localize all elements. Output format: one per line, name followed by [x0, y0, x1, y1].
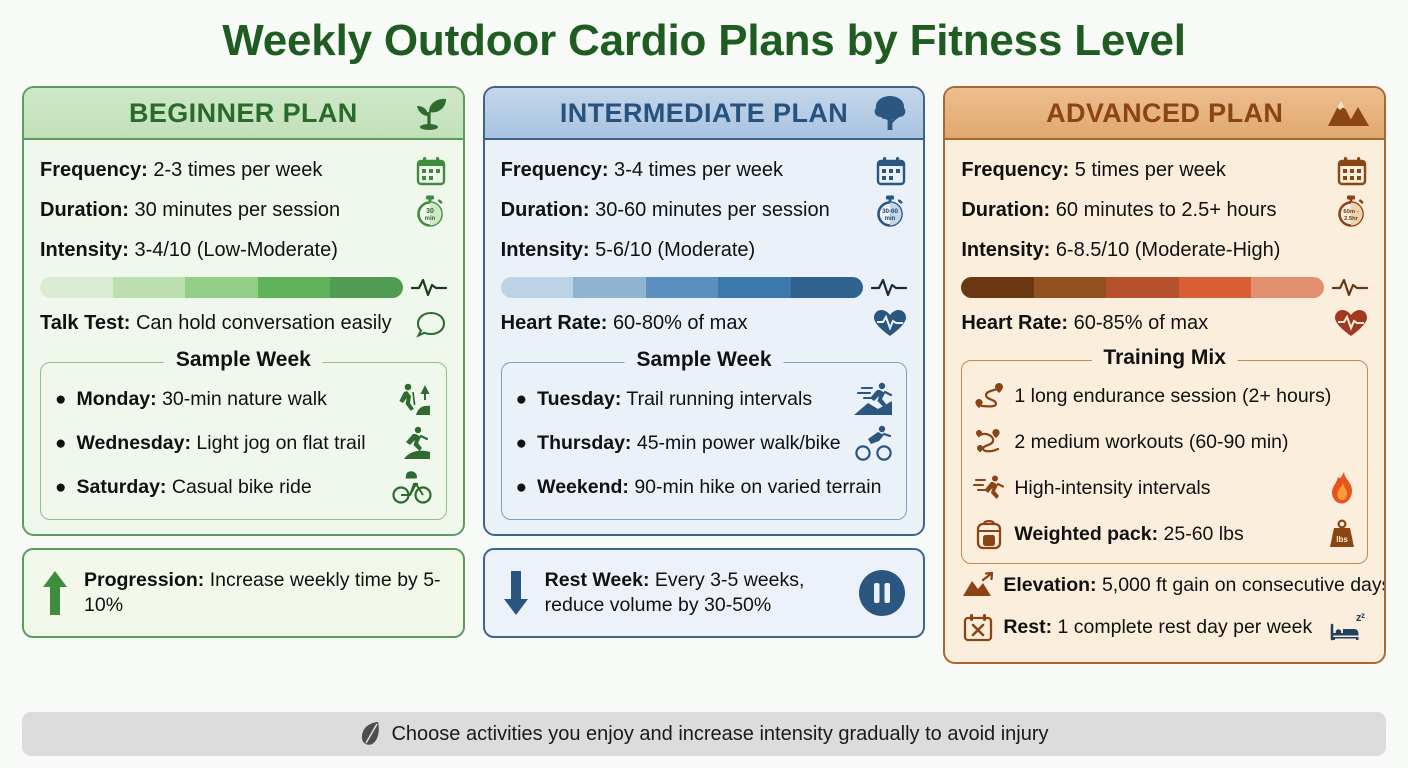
stat-value: 6-8.5/10 (Moderate-High)	[1056, 239, 1281, 261]
calendar-x-icon	[961, 612, 995, 642]
stat-label: Heart Rate:	[501, 312, 608, 334]
bottom-banner: Choose activities you enjoy and increase…	[22, 712, 1386, 756]
card-body-intermediate: Frequency: 3-4 times per week	[485, 140, 924, 534]
infographic-page: Weekly Outdoor Cardio Plans by Fitness L…	[0, 0, 1408, 768]
row-label: Rest:	[1003, 616, 1052, 638]
stat-label: Frequency:	[40, 159, 148, 181]
card-body-advanced: Frequency: 5 times per week	[945, 140, 1384, 662]
beginner-plan-title: BEGINNER PLAN	[129, 98, 358, 129]
stat-row-duration: Duration: 30-60 minutes per session 30-6…	[501, 191, 908, 231]
bullet-icon: ●	[55, 390, 66, 409]
plan-columns: BEGINNER PLAN Frequency:	[22, 86, 1386, 664]
tree-icon	[871, 95, 909, 131]
mountains-icon	[1326, 97, 1370, 129]
week-activity: Light jog on flat trail	[196, 432, 365, 454]
svg-text:lbs: lbs	[1336, 535, 1348, 544]
subpanel-sample-week-intermediate: Sample Week ● Tuesday: Trail running int…	[501, 362, 908, 520]
mix-value: High-intensity intervals	[1014, 477, 1210, 499]
card-advanced: ADVANCED PLAN Frequency: 5 times per	[943, 86, 1386, 664]
week-day-label: Tuesday:	[537, 388, 621, 410]
svg-text:60m -: 60m -	[1343, 209, 1358, 215]
row-value: 1 complete rest day per week	[1058, 616, 1313, 638]
list-item: ● Monday: 30-min nature walk	[53, 377, 434, 421]
column-intermediate: INTERMEDIATE PLAN Frequency: 3-4 tim	[483, 86, 926, 664]
weight-icon: lbs	[1315, 519, 1357, 549]
speech-bubble-icon	[407, 310, 447, 338]
card-header-intermediate: INTERMEDIATE PLAN	[485, 88, 924, 140]
stat-value: 3-4/10 (Low-Moderate)	[134, 239, 337, 261]
column-advanced: ADVANCED PLAN Frequency: 5 times per	[943, 86, 1386, 664]
svg-text:30: 30	[426, 208, 434, 215]
stat-label: Talk Test:	[40, 312, 130, 334]
route-icon	[972, 382, 1006, 410]
intensity-segment	[258, 277, 331, 298]
card-header-advanced: ADVANCED PLAN	[945, 88, 1384, 140]
pause-icon	[857, 568, 907, 618]
stat-row-intensity: Intensity: 5-6/10 (Moderate)	[501, 231, 908, 271]
week-day-label: Wednesday:	[76, 432, 191, 454]
calendar-icon	[407, 156, 447, 186]
leaf-icon	[359, 720, 381, 748]
flame-icon	[1315, 471, 1357, 505]
stat-value: 60-80% of max	[613, 312, 748, 334]
week-day-label: Saturday:	[76, 476, 166, 498]
arrow-up-icon	[40, 569, 70, 617]
stat-label: Heart Rate:	[961, 312, 1068, 334]
list-item: ● Weekend: 90-min hike on varied terrain	[514, 465, 895, 509]
week-day-label: Monday:	[76, 388, 156, 410]
row-elevation: Elevation: 5,000 ft gain on consecutive …	[961, 564, 1368, 606]
intensity-segment	[961, 277, 1034, 298]
stat-label: Frequency:	[501, 159, 609, 181]
runner-icon	[390, 425, 434, 461]
mix-label: Weighted pack:	[1014, 523, 1158, 545]
stat-value: Can hold conversation easily	[136, 312, 392, 334]
svg-text:min: min	[424, 216, 435, 222]
list-item: ● Wednesday: Light jog on flat trail	[53, 421, 434, 465]
intensity-segment	[501, 277, 574, 298]
stat-value: 5-6/10 (Moderate)	[595, 239, 755, 261]
hiker-icon	[390, 381, 434, 417]
stat-value: 30 minutes per session	[134, 199, 340, 221]
stat-label: Duration:	[961, 199, 1050, 221]
list-item: High-intensity intervals	[972, 465, 1357, 511]
note-progression: Progression: Increase weekly time by 5-1…	[22, 548, 465, 638]
stat-value: 30-60 minutes per session	[595, 199, 830, 221]
seedling-icon	[409, 96, 449, 130]
calendar-icon	[867, 156, 907, 186]
note-rest-week: Rest Week: Every 3-5 weeks, reduce volum…	[483, 548, 926, 638]
stopwatch-icon: 30 min	[407, 194, 447, 228]
card-beginner: BEGINNER PLAN Frequency:	[22, 86, 465, 536]
bullet-icon: ●	[516, 390, 527, 409]
bicycle-icon	[390, 468, 434, 506]
heart-pulse-icon	[1328, 309, 1368, 339]
intensity-segment	[1179, 277, 1252, 298]
intensity-bar	[961, 277, 1324, 298]
backpack-icon	[972, 518, 1006, 550]
heart-pulse-icon	[867, 309, 907, 339]
list-item: ● Tuesday: Trail running intervals	[514, 377, 895, 421]
list-item: Weighted pack: 25-60 lbs lbs	[972, 511, 1357, 557]
bed-sleep-icon: z z	[1326, 611, 1368, 643]
stat-value: 2-3 times per week	[153, 159, 322, 181]
subpanel-title: Sample Week	[624, 348, 783, 372]
heartbeat-line-icon	[1332, 276, 1368, 298]
intensity-segment	[185, 277, 258, 298]
intensity-bar-row-intermediate	[501, 274, 908, 300]
intensity-segment	[40, 277, 113, 298]
stat-row-intensity: Intensity: 6-8.5/10 (Moderate-High)	[961, 231, 1368, 271]
intensity-segment	[1251, 277, 1324, 298]
stat-label: Intensity:	[501, 239, 590, 261]
stat-label: Frequency:	[961, 159, 1069, 181]
svg-text:2.5hr: 2.5hr	[1344, 216, 1359, 222]
week-day-label: Thursday:	[537, 432, 631, 454]
intensity-segment	[330, 277, 403, 298]
week-activity: Trail running intervals	[626, 388, 812, 410]
week-activity: 90-min hike on varied terrain	[634, 476, 881, 498]
list-item: 2 medium workouts (60-90 min)	[972, 419, 1357, 465]
mix-value: 1 long endurance session (2+ hours)	[1014, 385, 1331, 407]
row-value: 5,000 ft gain on consecutive days	[1102, 574, 1386, 596]
calendar-icon	[1328, 156, 1368, 186]
page-title: Weekly Outdoor Cardio Plans by Fitness L…	[0, 0, 1408, 73]
elevation-icon	[961, 571, 995, 599]
intensity-segment	[646, 277, 719, 298]
bullet-icon: ●	[55, 478, 66, 497]
card-header-beginner: BEGINNER PLAN	[24, 88, 463, 140]
row-rest: Rest: 1 complete rest day per week z z	[961, 606, 1368, 648]
stat-row-frequency: Frequency: 2-3 times per week	[40, 151, 447, 191]
stat-value: 5 times per week	[1075, 159, 1226, 181]
subpanel-training-mix: Training Mix 1 long endurance sess	[961, 360, 1368, 564]
note-label: Progression:	[84, 569, 204, 591]
stat-row-duration: Duration: 60 minutes to 2.5+ hours 60m -	[961, 191, 1368, 231]
svg-text:min: min	[885, 216, 896, 222]
intensity-segment	[1034, 277, 1107, 298]
banner-text: Choose activities you enjoy and increase…	[391, 723, 1048, 746]
intensity-segment	[113, 277, 186, 298]
stat-label: Duration:	[40, 199, 129, 221]
subpanel-sample-week-beginner: Sample Week ● Monday: 30-min nature walk	[40, 362, 447, 520]
list-item: ● Thursday: 45-min power walk/bike	[514, 421, 895, 465]
route-alt-icon	[972, 428, 1006, 456]
stat-row-talk-test: Talk Test: Can hold conversation easily	[40, 304, 447, 344]
stat-row-intensity: Intensity: 3-4/10 (Low-Moderate)	[40, 231, 447, 271]
sprinter-icon	[972, 474, 1006, 502]
intensity-segment	[573, 277, 646, 298]
stat-row-frequency: Frequency: 3-4 times per week	[501, 151, 908, 191]
bullet-icon: ●	[516, 478, 527, 497]
stat-label: Intensity:	[961, 239, 1050, 261]
advanced-plan-title: ADVANCED PLAN	[1046, 98, 1283, 129]
card-intermediate: INTERMEDIATE PLAN Frequency: 3-4 tim	[483, 86, 926, 536]
week-day-label: Weekend:	[537, 476, 629, 498]
trail-runner-icon	[850, 381, 894, 417]
stat-row-heart-rate: Heart Rate: 60-85% of max	[961, 304, 1368, 344]
intermediate-plan-title: INTERMEDIATE PLAN	[560, 98, 848, 129]
stat-value: 3-4 times per week	[614, 159, 783, 181]
arrow-down-icon	[501, 569, 531, 617]
subpanel-title: Sample Week	[164, 348, 323, 372]
stat-row-duration: Duration: 30 minutes per session 30	[40, 191, 447, 231]
card-body-beginner: Frequency: 2-3 times per week	[24, 140, 463, 534]
heartbeat-line-icon	[871, 276, 907, 298]
cyclist-icon	[850, 424, 894, 462]
stat-row-frequency: Frequency: 5 times per week	[961, 151, 1368, 191]
stat-value: 60 minutes to 2.5+ hours	[1056, 199, 1277, 221]
list-item: ● Saturday: Casual bike ride	[53, 465, 434, 509]
mix-value: 25-60 lbs	[1164, 523, 1244, 545]
subpanel-title: Training Mix	[1091, 346, 1238, 370]
intensity-bar	[40, 277, 403, 298]
intensity-bar	[501, 277, 864, 298]
stopwatch-icon: 30-60 min	[867, 194, 907, 228]
column-beginner: BEGINNER PLAN Frequency:	[22, 86, 465, 664]
heartbeat-line-icon	[411, 276, 447, 298]
list-item: 1 long endurance session (2+ hours)	[972, 373, 1357, 419]
intensity-bar-row-advanced	[961, 274, 1368, 300]
intensity-segment	[1106, 277, 1179, 298]
bullet-icon: ●	[516, 434, 527, 453]
stat-label: Duration:	[501, 199, 590, 221]
row-label: Elevation:	[1003, 574, 1096, 596]
note-label: Rest Week:	[545, 569, 650, 591]
mix-value: 2 medium workouts (60-90 min)	[1014, 431, 1288, 453]
bullet-icon: ●	[55, 434, 66, 453]
intensity-segment	[718, 277, 791, 298]
week-activity: 30-min nature walk	[162, 388, 327, 410]
week-activity: 45-min power walk/bike	[637, 432, 841, 454]
stopwatch-icon: 60m - 2.5hr	[1328, 194, 1368, 228]
svg-text:z: z	[1361, 611, 1365, 620]
week-activity: Casual bike ride	[172, 476, 312, 498]
svg-text:30-60: 30-60	[882, 208, 898, 215]
intensity-segment	[791, 277, 864, 298]
stat-label: Intensity:	[40, 239, 129, 261]
intensity-bar-row-beginner	[40, 274, 447, 300]
stat-value: 60-85% of max	[1074, 312, 1209, 334]
stat-row-heart-rate: Heart Rate: 60-80% of max	[501, 304, 908, 344]
